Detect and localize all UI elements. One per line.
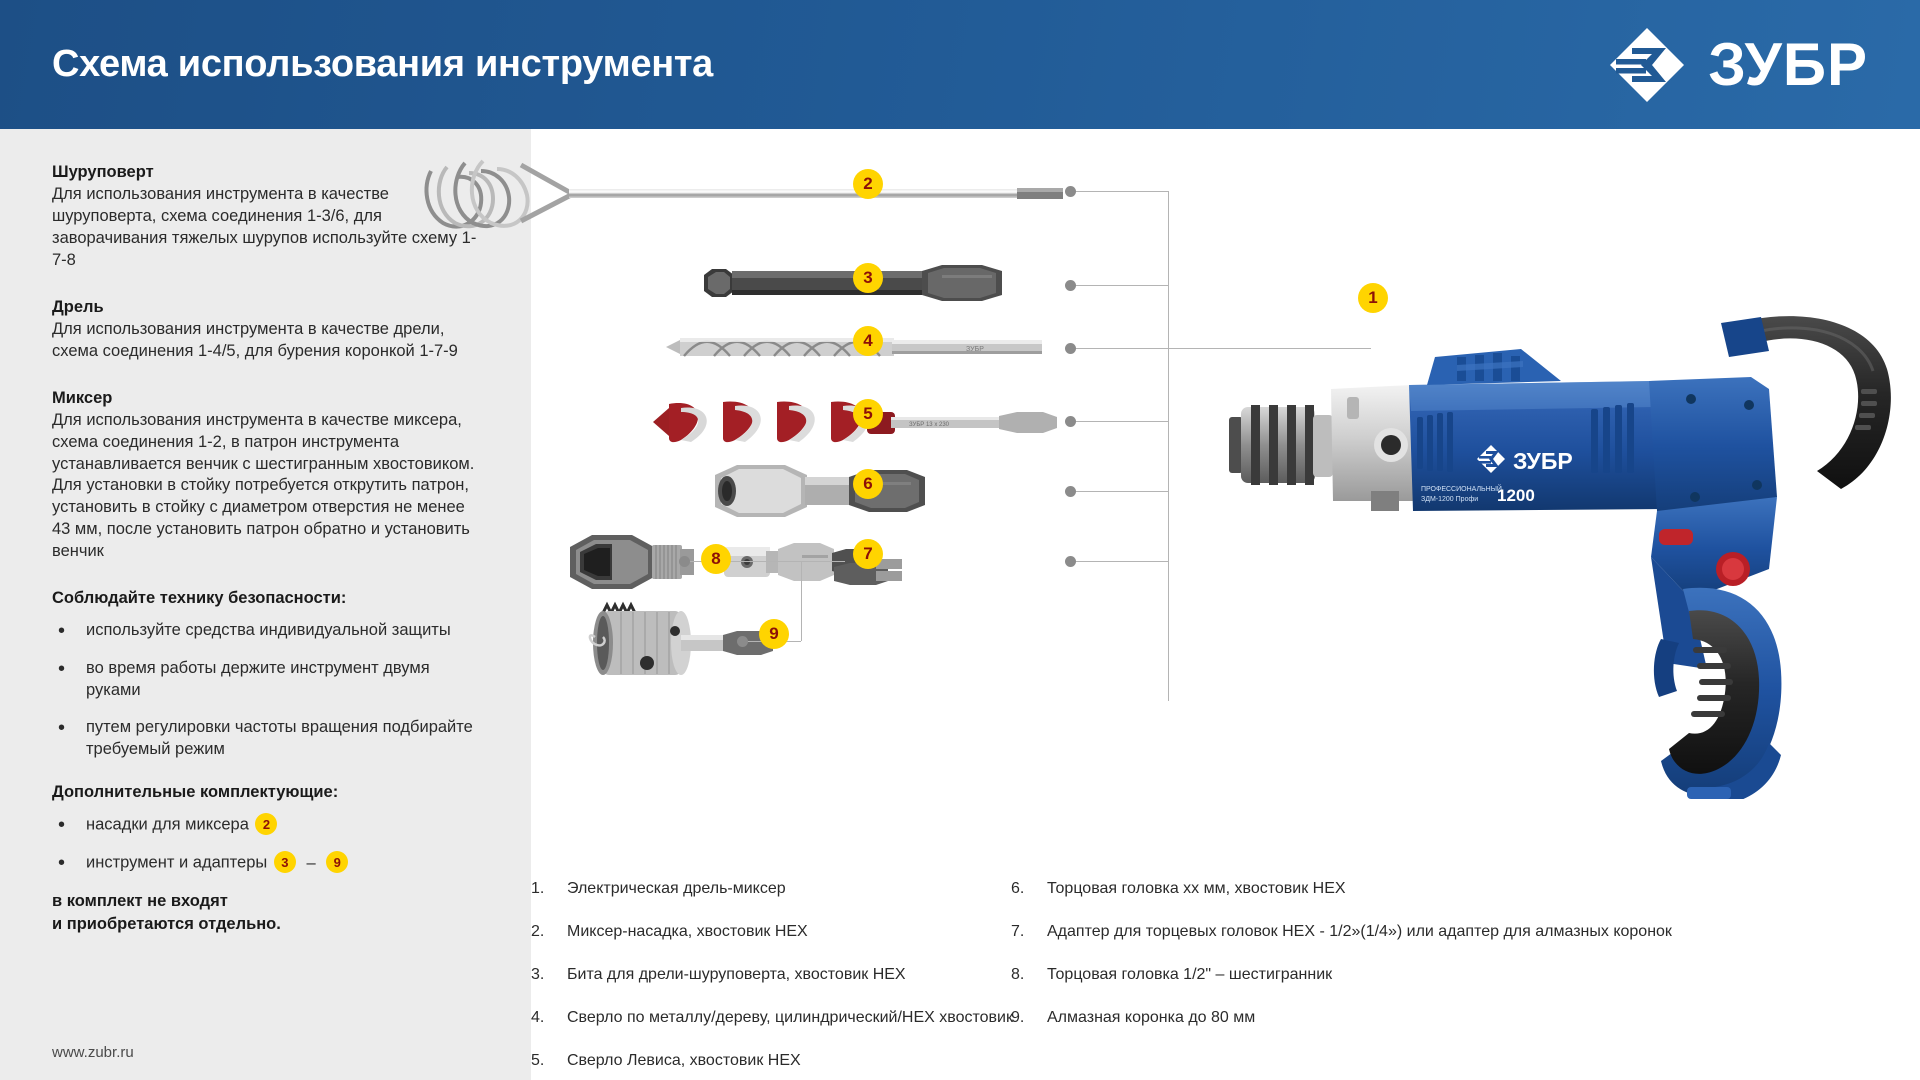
extras-list: насадки для миксера 2 инструмент и адапт… (52, 814, 487, 874)
leader-dot-9 (737, 636, 748, 647)
list-item: 8. Торцовая головка 1/2" – шестигранник (1011, 966, 1911, 984)
section-body-drill: Для использования инструмента в качестве… (52, 319, 487, 363)
legend-label: Электрическая дрель-миксер (567, 880, 786, 898)
list-item: путем регулировки частоты вращения подби… (52, 717, 487, 761)
legend-number: 6. (1011, 880, 1047, 898)
svg-text:1200: 1200 (1497, 486, 1535, 505)
list-item: 4. Сверло по металлу/дереву, цилиндричес… (531, 1009, 1031, 1027)
badge-9: 9 (326, 851, 348, 873)
legend-number: 8. (1011, 966, 1047, 984)
list-item: инструмент и адаптеры 3 – 9 (52, 852, 487, 874)
callout-1: 1 (1358, 283, 1388, 313)
callout-3: 3 (853, 263, 883, 293)
callout-7-label: 7 (863, 544, 872, 564)
badge-3: 3 (274, 851, 296, 873)
badge-range-separator: – (306, 854, 315, 872)
svg-text:ЗУБР: ЗУБР (1513, 448, 1573, 474)
leader-line-7 (1071, 561, 1169, 562)
brand-wordmark: ЗУБР (1708, 35, 1868, 95)
badge-2: 2 (255, 813, 277, 835)
callout-4-label: 4 (863, 331, 872, 351)
callout-2: 2 (853, 169, 883, 199)
legend-column-left: 1. Электрическая дрель-миксер 2. Миксер-… (531, 880, 1031, 1080)
section-title-drill: Дрель (52, 298, 487, 317)
list-item: 2. Миксер-насадка, хвостовик HEX (531, 923, 1031, 941)
leader-line-2 (1071, 191, 1169, 192)
list-item: 6. Торцовая головка хх мм, хвостовик HEX (1011, 880, 1911, 898)
note-line-1: в комплект не входят (52, 890, 487, 912)
page-title: Схема использования инструмента (52, 43, 713, 86)
legend-label: Алмазная коронка до 80 мм (1047, 1009, 1255, 1027)
callout-7: 7 (853, 539, 883, 569)
extras-label-adapters: инструмент и адаптеры (86, 854, 267, 872)
leader-bus-vertical (1168, 191, 1169, 701)
legend-label: Миксер-насадка, хвостовик HEX (567, 923, 808, 941)
legend-label: Торцовая головка 1/2" – шестигранник (1047, 966, 1332, 984)
legend-number: 5. (531, 1052, 567, 1070)
legend-label: Сверло Левиса, хвостовик HEX (567, 1052, 801, 1070)
callout-4: 4 (853, 326, 883, 356)
callout-6: 6 (853, 469, 883, 499)
section-body-mixer: Для использования инструмента в качестве… (52, 410, 487, 476)
legend-number: 1. (531, 880, 567, 898)
legend-number: 3. (531, 966, 567, 984)
leader-dot-7 (1065, 556, 1076, 567)
callout-8: 8 (701, 544, 731, 574)
svg-text:ПРОФЕССИОНАЛЬНЫЙ: ПРОФЕССИОНАЛЬНЫЙ (1421, 484, 1502, 493)
callout-5: 5 (853, 399, 883, 429)
infographic-page: Схема использования инструмента ЗУБР Шур… (0, 0, 1920, 1080)
legend-label: Сверло по металлу/дереву, цилиндрический… (567, 1009, 1013, 1027)
list-item: используйте средства индивидуальной защи… (52, 620, 487, 642)
leader-dot-2 (1065, 186, 1076, 197)
callout-8-label: 8 (711, 549, 720, 569)
legend-number: 9. (1011, 1009, 1047, 1027)
list-item: 7. Адаптер для торцевых головок HEX - 1/… (1011, 923, 1911, 941)
safety-list: используйте средства индивидуальной защи… (52, 620, 487, 761)
callout-9: 9 (759, 619, 789, 649)
part-electric-drill-mixer: ЗУБР ПРОФЕССИОНАЛЬНЫЙ ЗДМ-1200 Профи 120… (1221, 239, 1920, 799)
leader-dot-5 (1065, 416, 1076, 427)
part-diamond-hole-saw (581, 599, 781, 689)
brand-logo: ЗУБР (1608, 26, 1868, 104)
website-url: www.zubr.ru (52, 1044, 134, 1061)
list-item: 3. Бита для дрели-шуруповерта, хвостовик… (531, 966, 1031, 984)
part-socket-adapter (716, 529, 906, 607)
leader-dot-8 (679, 556, 690, 567)
legend-number: 2. (531, 923, 567, 941)
part-hex-socket-half-inch (566, 527, 696, 597)
sidebar-panel: Шуруповерт Для использования инструмента… (0, 129, 531, 1080)
legend-column-right: 6. Торцовая головка хх мм, хвостовик HEX… (1011, 880, 1911, 1052)
extras-heading: Дополнительные комплектующие: (52, 783, 487, 802)
safety-heading: Соблюдайте технику безопасности: (52, 589, 487, 608)
list-item: во время работы держите инструмент двумя… (52, 658, 487, 702)
page-header: Схема использования инструмента ЗУБР (0, 0, 1920, 129)
callout-9-label: 9 (769, 624, 778, 644)
legend-label: Адаптер для торцевых головок HEX - 1/2»(… (1047, 923, 1672, 941)
callout-6-label: 6 (863, 474, 872, 494)
svg-text:ЗУБР 13 x 230: ЗУБР 13 x 230 (909, 422, 950, 428)
leader-line-4 (1071, 348, 1371, 349)
leader-line-5 (1071, 421, 1169, 422)
leader-dot-3 (1065, 280, 1076, 291)
extras-label-mixer: насадки для миксера (86, 815, 249, 833)
zubr-diamond-logo-icon (1608, 26, 1686, 104)
callout-1-label: 1 (1368, 288, 1377, 308)
callout-3-label: 3 (863, 268, 872, 288)
list-item: насадки для миксера 2 (52, 814, 487, 836)
section-body-mixer-stand: Для установки в стойку потребуется откру… (52, 475, 487, 563)
callout-2-label: 2 (863, 174, 872, 194)
section-title-mixer: Миксер (52, 389, 487, 408)
leader-dot-6 (1065, 486, 1076, 497)
part-mixer-paddle-attachment (421, 149, 1071, 239)
legend-number: 7. (1011, 923, 1047, 941)
leader-line-3 (1071, 285, 1169, 286)
leader-line-9-vertical (801, 561, 802, 641)
svg-text:ЗУБР: ЗУБР (966, 346, 984, 353)
legend-number: 4. (531, 1009, 567, 1027)
leader-dot-4 (1065, 343, 1076, 354)
callout-5-label: 5 (863, 404, 872, 424)
note-line-2: и приобретаются отдельно. (52, 913, 487, 935)
list-item: 9. Алмазная коронка до 80 мм (1011, 1009, 1911, 1027)
list-item: 1. Электрическая дрель-миксер (531, 880, 1031, 898)
legend-label: Бита для дрели-шуруповерта, хвостовик HE… (567, 966, 906, 984)
leader-line-6 (1071, 491, 1169, 492)
svg-text:ЗДМ-1200 Профи: ЗДМ-1200 Профи (1421, 496, 1478, 503)
list-item: 5. Сверло Левиса, хвостовик HEX (531, 1052, 1031, 1070)
legend-label: Торцовая головка хх мм, хвостовик HEX (1047, 880, 1346, 898)
